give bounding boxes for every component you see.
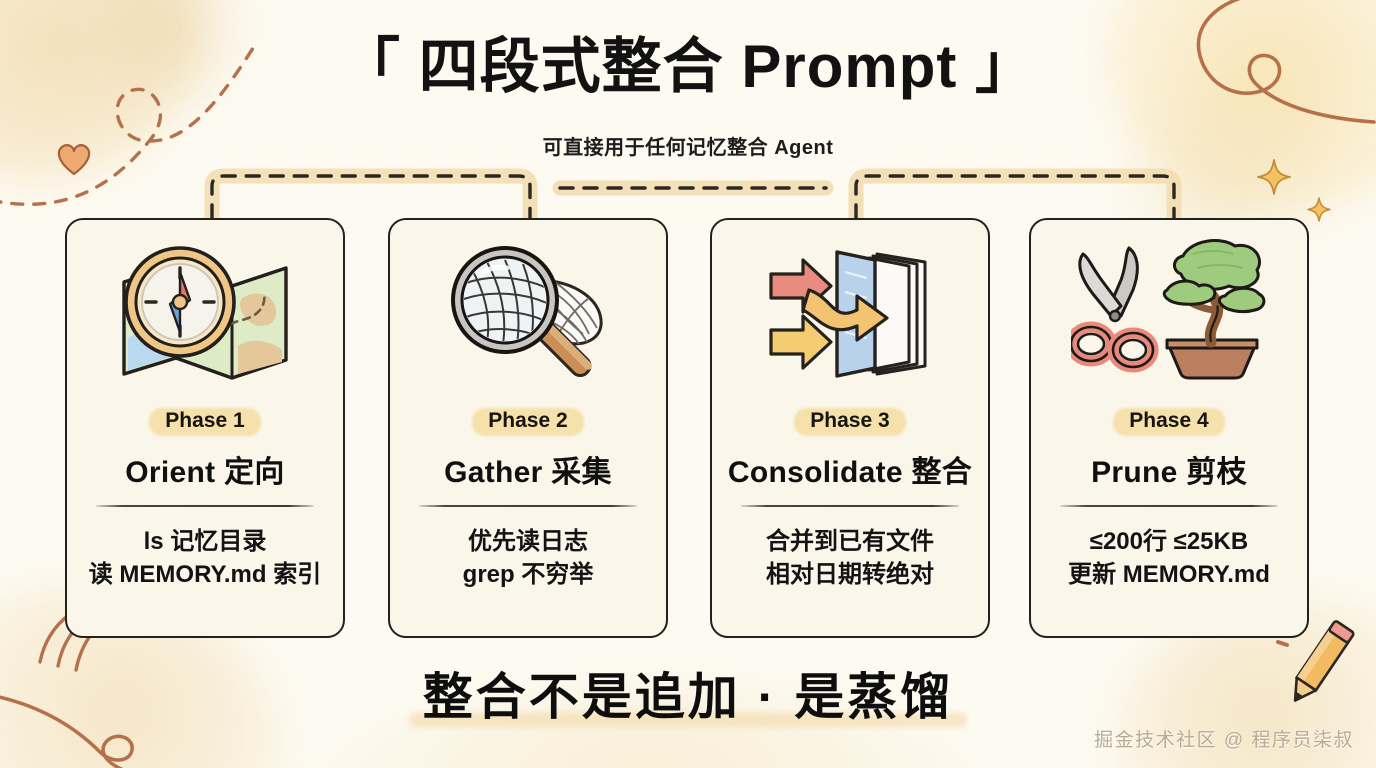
phase-detail-list: ls 记忆目录 读 MEMORY.md 索引 bbox=[89, 525, 321, 591]
phase-detail-line: 更新 MEMORY.md bbox=[1068, 558, 1270, 591]
scissors-bonsai-icon bbox=[1031, 220, 1307, 406]
card-divider bbox=[96, 505, 314, 507]
card-divider bbox=[1060, 505, 1278, 507]
phase-detail-line: grep 不穷举 bbox=[463, 558, 594, 591]
card-divider bbox=[741, 505, 959, 507]
page-subtitle: 可直接用于任何记忆整合 Agent bbox=[0, 131, 1376, 160]
phase-detail-list: 合并到已有文件 相对日期转绝对 bbox=[766, 525, 934, 591]
phase-detail-line: 优先读日志 bbox=[463, 525, 594, 558]
magnifier-net-icon bbox=[390, 220, 666, 406]
phase-detail-line: 合并到已有文件 bbox=[766, 525, 934, 558]
phase-card-4[interactable]: Phase 4 Prune 剪枝 ≤200行 ≤25KB 更新 MEMORY.m… bbox=[1029, 218, 1309, 638]
phase-detail-list: 优先读日志 grep 不穷举 bbox=[463, 525, 594, 591]
infographic-canvas: 「 四段式整合 Prompt 」 可直接用于任何记忆整合 Agent bbox=[0, 0, 1376, 768]
phase-badge: Phase 3 bbox=[794, 406, 905, 437]
phase-title: Prune 剪枝 bbox=[1091, 447, 1247, 491]
phase-detail-line: 读 MEMORY.md 索引 bbox=[89, 558, 321, 591]
phase-title: Consolidate 整合 bbox=[728, 447, 972, 491]
phase-badge: Phase 1 bbox=[149, 406, 260, 437]
page-title: 「 四段式整合 Prompt 」 bbox=[0, 34, 1376, 100]
phase-title: Gather 采集 bbox=[444, 447, 612, 491]
tagline: 整合不是追加 · 是蒸馏 bbox=[409, 657, 967, 729]
phase-title: Orient 定向 bbox=[125, 447, 284, 491]
phase-card-grid: Phase 1 Orient 定向 ls 记忆目录 读 MEMORY.md 索引 bbox=[0, 218, 1376, 638]
phase-card-3[interactable]: Phase 3 Consolidate 整合 合并到已有文件 相对日期转绝对 bbox=[710, 218, 990, 638]
phase-detail-line: ls 记忆目录 bbox=[89, 525, 321, 558]
phase-badge: Phase 4 bbox=[1113, 406, 1224, 437]
phase-card-2[interactable]: Phase 2 Gather 采集 优先读日志 grep 不穷举 bbox=[388, 218, 668, 638]
card-divider bbox=[419, 505, 637, 507]
phase-detail-list: ≤200行 ≤25KB 更新 MEMORY.md bbox=[1068, 525, 1270, 591]
merge-arrows-folder-icon bbox=[712, 220, 988, 406]
watermark: 掘金技术社区 @ 程序员柒叔 bbox=[1094, 725, 1354, 752]
phase-card-1[interactable]: Phase 1 Orient 定向 ls 记忆目录 读 MEMORY.md 索引 bbox=[65, 218, 345, 638]
phase-detail-line: 相对日期转绝对 bbox=[766, 558, 934, 591]
tagline-container: 整合不是追加 · 是蒸馏 bbox=[0, 657, 1376, 729]
compass-map-icon bbox=[67, 220, 343, 406]
phase-detail-line: ≤200行 ≤25KB bbox=[1068, 525, 1270, 558]
phase-badge: Phase 2 bbox=[472, 406, 583, 437]
